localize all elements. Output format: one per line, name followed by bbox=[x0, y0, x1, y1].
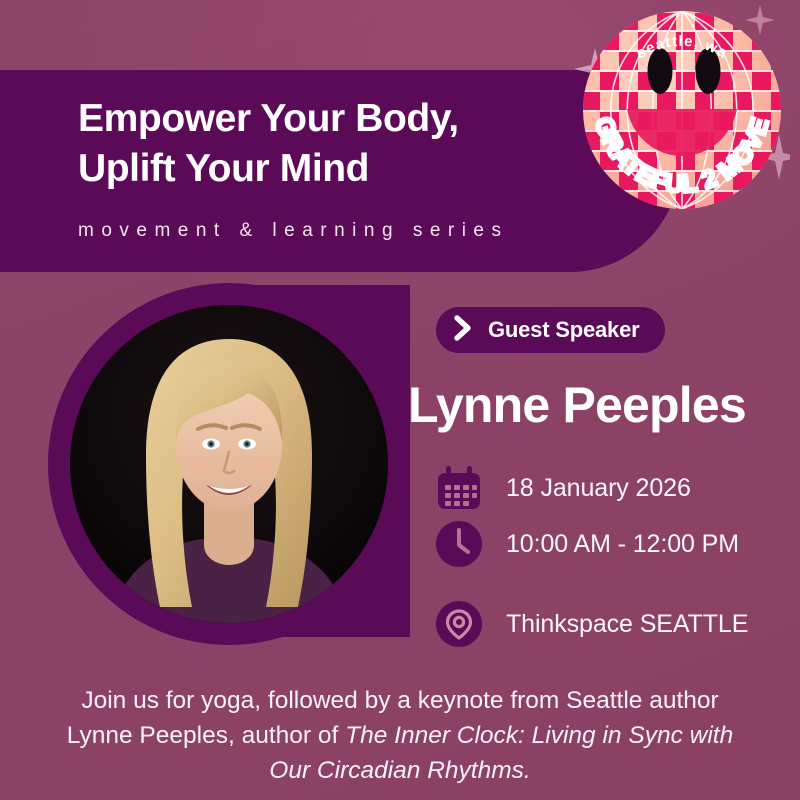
disco-ball-logo: seattle, wa GRATEFUL 2 MOVE bbox=[575, 3, 790, 218]
detail-row-time: 10:00 AM - 12:00 PM bbox=[432, 516, 782, 572]
header-banner-content: Empower Your Body, Uplift Your Mind move… bbox=[78, 94, 598, 242]
footer-description: Join us for yoga, followed by a keynote … bbox=[46, 684, 754, 788]
speaker-portrait bbox=[70, 305, 388, 623]
detail-time-text: 10:00 AM - 12:00 PM bbox=[506, 530, 739, 559]
guest-speaker-badge-label: Guest Speaker bbox=[488, 317, 639, 343]
event-details-list: 18 January 2026 10:00 AM - 12:00 PM Thin… bbox=[432, 460, 782, 652]
location-pin-icon bbox=[432, 597, 486, 651]
calendar-icon bbox=[432, 461, 486, 515]
banner-subtitle: movement & learning series bbox=[78, 220, 598, 242]
clock-icon bbox=[432, 517, 486, 571]
page-title: Empower Your Body, Uplift Your Mind bbox=[78, 94, 598, 194]
chevron-right-icon bbox=[454, 315, 473, 346]
detail-location-text: Thinkspace SEATTLE bbox=[506, 610, 748, 639]
detail-row-location: Thinkspace SEATTLE bbox=[432, 596, 782, 652]
speaker-name: Lynne Peeples bbox=[408, 376, 746, 434]
guest-speaker-badge[interactable]: Guest Speaker bbox=[436, 307, 665, 353]
detail-date-text: 18 January 2026 bbox=[506, 474, 691, 503]
avatar bbox=[70, 305, 388, 623]
event-poster: Empower Your Body, Uplift Your Mind move… bbox=[0, 0, 800, 800]
disco-ball-icon: seattle, wa GRATEFUL 2 MOVE bbox=[575, 3, 790, 218]
detail-row-date: 18 January 2026 bbox=[432, 460, 782, 516]
